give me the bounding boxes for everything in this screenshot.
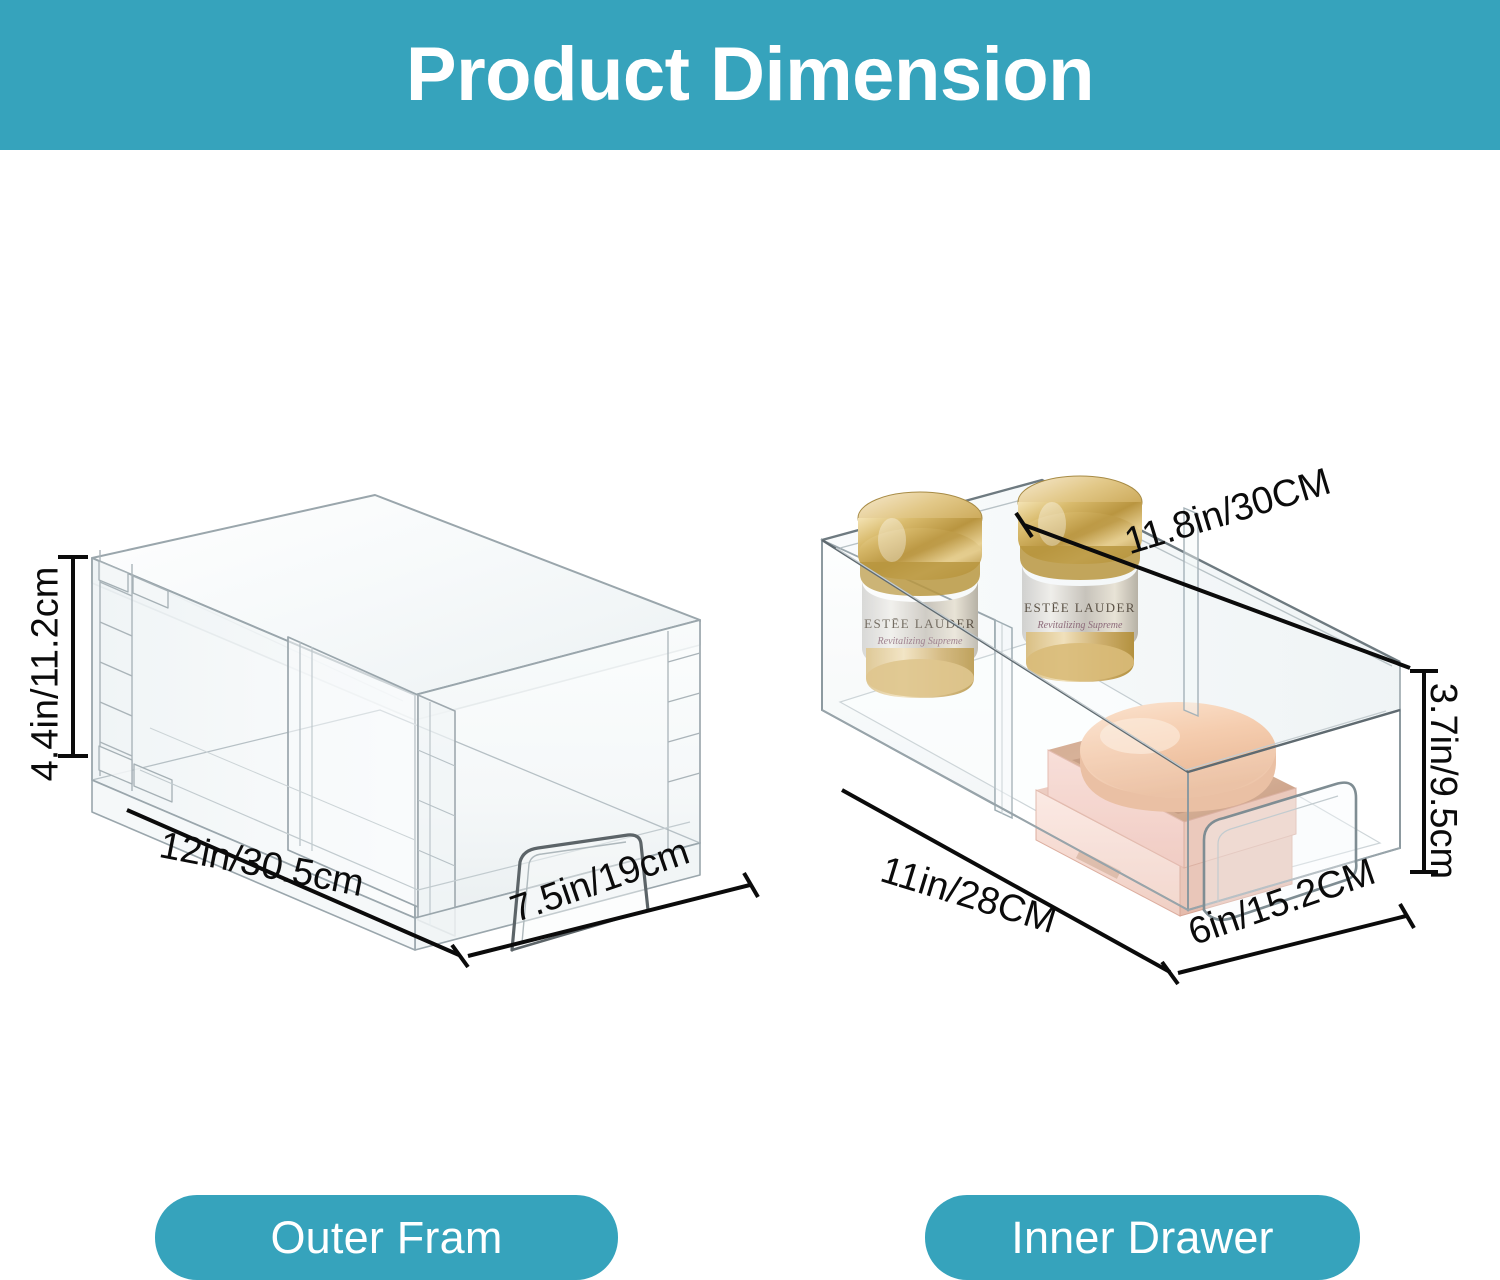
inner-drawer-illustration: ESTĒE LAUDER Revitalizing Supreme ESTĒE … [780, 150, 1500, 1133]
header-banner: Product Dimension [0, 0, 1500, 150]
product-inner-drawer: ESTĒE LAUDER Revitalizing Supreme ESTĒE … [780, 150, 1500, 1133]
dimension-label-outer-height: 4.4in/11.2cm [26, 567, 64, 782]
dimension-label-inner-height: 3.7in/9.5cm [1424, 683, 1462, 879]
svg-text:ESTĒE LAUDER: ESTĒE LAUDER [1024, 600, 1136, 615]
product-dimension-stage: 4.4in/11.2cm 12in/30.5cm 7.5in/19cm [0, 150, 1500, 1133]
outer-frame-illustration [0, 150, 780, 1133]
svg-text:Revitalizing Supreme: Revitalizing Supreme [1037, 620, 1123, 631]
page-title: Product Dimension [406, 37, 1094, 113]
product-outer-frame: 4.4in/11.2cm 12in/30.5cm 7.5in/19cm [0, 150, 780, 1133]
label-pill-outer-frame[interactable]: Outer Fram [155, 1195, 618, 1280]
label-pill-inner-drawer[interactable]: Inner Drawer [925, 1195, 1360, 1280]
